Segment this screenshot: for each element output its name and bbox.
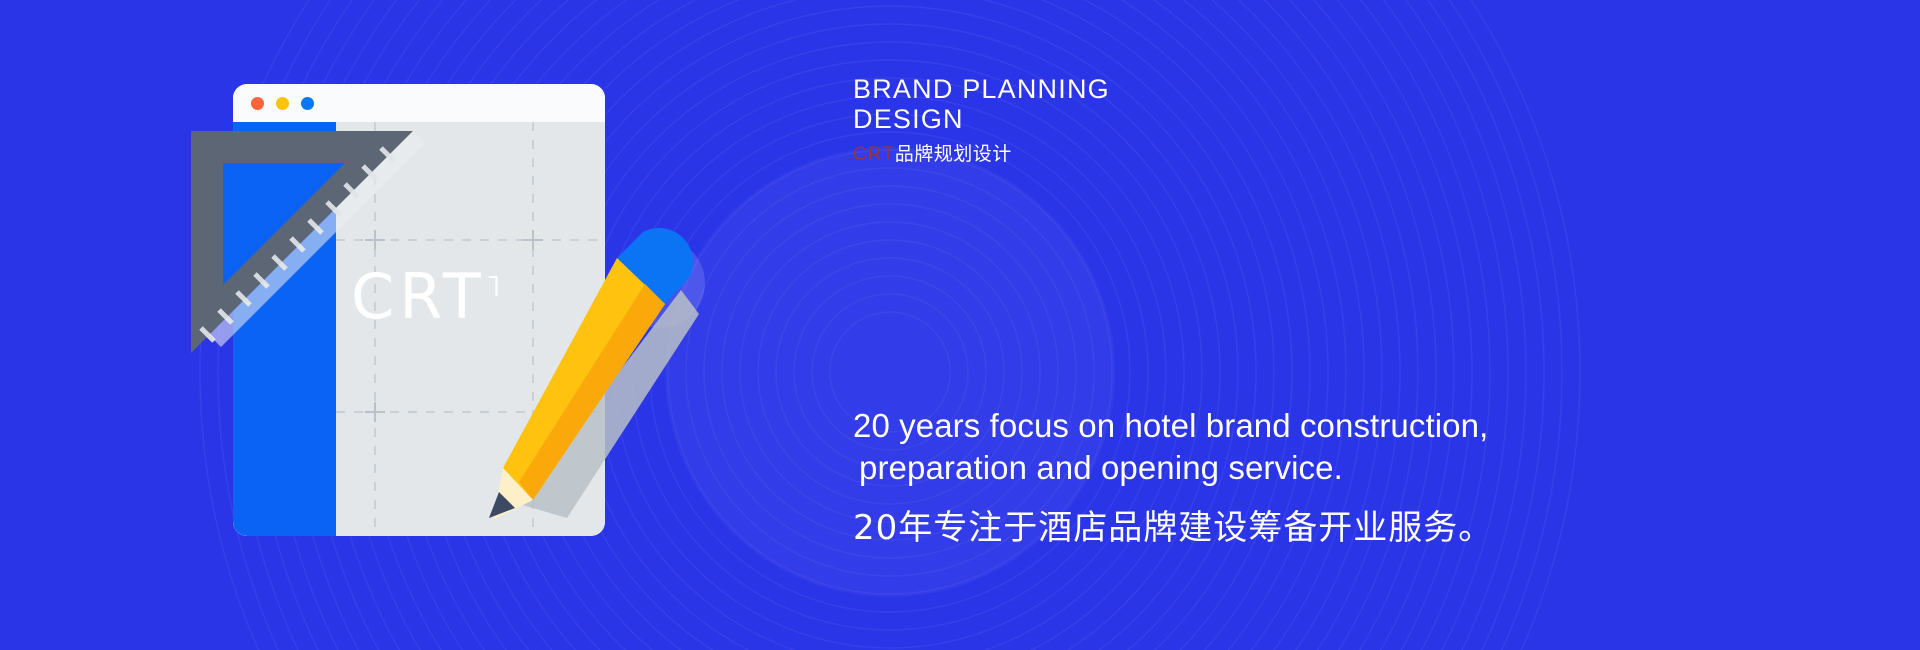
headline-line-1: BRAND PLANNING (853, 74, 1473, 104)
window-controls (251, 97, 314, 110)
tagline-cn: 20年专注于酒店品牌建设筹备开业服务。 (853, 507, 1753, 549)
hero-illustration: CRT˥ (185, 78, 685, 558)
maximize-dot-icon[interactable] (301, 97, 314, 110)
headline-line-2: DESIGN (853, 104, 1473, 134)
brand-name-crt: CRT (853, 144, 895, 165)
pencil-icon (475, 218, 705, 548)
window-titlebar (233, 84, 605, 122)
headline-subtitle-cn: 品牌规划设计 (895, 143, 1012, 165)
tagline-en-line-2: preparation and opening service. (853, 447, 1753, 489)
tagline-en-line-1: 20 years focus on hotel brand constructi… (853, 407, 1488, 444)
headline-subtitle: CRT品牌规划设计 (853, 139, 1473, 166)
tagline-en: 20 years focus on hotel brand constructi… (853, 405, 1753, 489)
tagline-block: 20 years focus on hotel brand constructi… (853, 405, 1753, 549)
minimize-dot-icon[interactable] (276, 97, 289, 110)
headline-block: BRAND PLANNING DESIGN CRT品牌规划设计 (853, 74, 1473, 166)
brand-banner: CRT˥ (0, 0, 1920, 650)
triangle-ruler-icon (185, 125, 425, 355)
close-dot-icon[interactable] (251, 97, 264, 110)
